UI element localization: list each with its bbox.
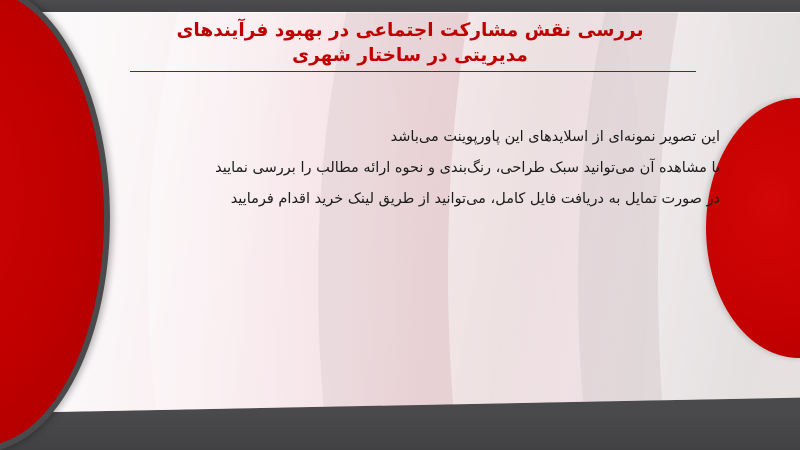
slide-frame-bottom-bar <box>0 412 800 450</box>
slide-title-line-2: مدیریتی در ساختار شهری <box>120 43 700 68</box>
slide-body-line-3: در صورت تمایل به دریافت فایل کامل، می‌تو… <box>120 184 720 215</box>
slide-body-line-1: این تصویر نمونه‌ای از اسلایدهای این پاور… <box>120 122 720 153</box>
slide-body-text: این تصویر نمونه‌ای از اسلایدهای این پاور… <box>120 122 720 215</box>
slide-title: بررسی نقش مشارکت اجتماعی در بهبود فرآیند… <box>120 18 700 68</box>
presentation-slide: بررسی نقش مشارکت اجتماعی در بهبود فرآیند… <box>0 0 800 450</box>
slide-frame-top-bar <box>0 0 800 13</box>
title-underline-rule <box>130 71 696 72</box>
slide-body-line-2: با مشاهده آن می‌توانید سبک طراحی، رنگ‌بن… <box>120 153 720 184</box>
slide-title-line-1: بررسی نقش مشارکت اجتماعی در بهبود فرآیند… <box>120 18 700 43</box>
